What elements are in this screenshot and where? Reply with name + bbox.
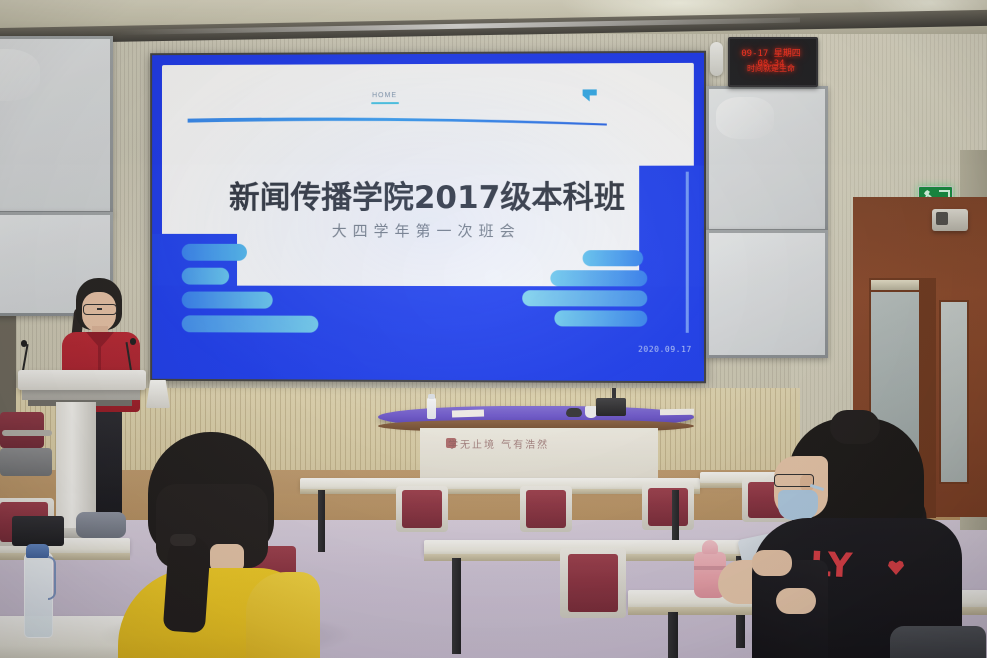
slide-deco-bar	[182, 268, 229, 285]
microphone-icon	[21, 340, 27, 347]
desk-edge	[0, 553, 130, 560]
papers-on-table	[452, 409, 484, 417]
led-line-2: 时间就是生命	[730, 63, 812, 74]
flag-icon	[583, 89, 597, 101]
led-clock-display: 09-17 星期四 08:34 时间就是生命	[728, 37, 818, 87]
whiteboard-glare	[716, 97, 774, 139]
whiteboard-panel-top	[0, 36, 113, 214]
slide-deco-bar	[583, 250, 644, 266]
glasses-icon	[774, 474, 814, 487]
slide-deco-bar	[522, 290, 647, 306]
student-hair-bun	[830, 410, 880, 444]
chair-seat	[0, 448, 52, 476]
student-arm	[752, 550, 792, 576]
av-control-box[interactable]	[596, 398, 626, 416]
slide-nav-item-home[interactable]: HOME	[372, 92, 397, 99]
slide-deco-bar	[182, 315, 319, 332]
bottle-cap	[428, 394, 435, 399]
desk-leg	[668, 612, 678, 658]
hair-tie-icon	[170, 534, 196, 546]
slide-deco-bar	[182, 244, 247, 261]
glasses-bridge	[97, 308, 102, 310]
student-yellow	[118, 432, 328, 658]
student-shoulder	[246, 572, 320, 658]
slide-deco-bar	[554, 310, 647, 326]
slide-subtitle: 大四学年第一次班会	[152, 220, 704, 241]
desk-leg	[452, 558, 461, 654]
desk-edge	[300, 489, 700, 494]
bag-on-desk	[12, 516, 64, 546]
whiteboard-surface	[0, 39, 110, 211]
chair-back[interactable]	[402, 490, 442, 528]
microphone-icon	[130, 338, 136, 345]
whiteboard-glare	[0, 49, 40, 101]
student-hand	[776, 588, 816, 614]
student-ponytail	[163, 535, 212, 634]
bottle-cap	[26, 544, 49, 558]
chair-back[interactable]	[526, 490, 566, 528]
table-calligraphy: 学无止境 气有浩然	[448, 436, 580, 458]
slide-deco-bar	[550, 270, 647, 286]
whiteboard-surface	[709, 89, 825, 229]
slide-title: 新闻传播学院2017级本科班	[152, 172, 704, 217]
glasses-icon	[83, 304, 117, 315]
whiteboard-panel-bottom	[706, 230, 828, 358]
papers-on-table	[660, 409, 694, 416]
slide-deco-bar	[182, 292, 273, 309]
whiteboard-panel-top	[706, 86, 828, 232]
wall-recess	[0, 300, 16, 430]
student-black-tee: LY	[752, 418, 987, 658]
camera-lens-icon	[936, 212, 948, 225]
computer-mouse[interactable]	[566, 408, 582, 417]
whiteboard-surface	[709, 233, 825, 355]
thermos-band	[694, 566, 726, 570]
chair-back[interactable]	[648, 488, 688, 526]
chair-armrest	[2, 430, 52, 436]
face-mask-icon	[778, 490, 818, 520]
whiteboard-right	[706, 86, 828, 358]
thermos-neck	[702, 540, 718, 554]
whiteboard-left	[0, 36, 113, 316]
backpack	[890, 626, 986, 658]
slide-nav-active-underline	[371, 102, 399, 104]
slide-viewport: HOME 新闻传播学院2017级本科班 大四学年第一次班会 2020.09.17	[152, 53, 704, 381]
chair-back[interactable]	[568, 554, 618, 612]
slide-swoosh	[188, 116, 607, 127]
slide-nav: HOME	[152, 91, 704, 111]
lecture-hall-photo: HOME 新闻传播学院2017级本科班 大四学年第一次班会 2020.09.17	[0, 0, 987, 658]
projection-screen: HOME 新闻传播学院2017级本科班 大四学年第一次班会 2020.09.17	[150, 51, 706, 384]
motion-sensor	[710, 42, 723, 76]
podium-desktop	[18, 370, 146, 390]
wall-camera	[932, 209, 968, 231]
bottle-strap	[48, 556, 56, 600]
sanitizer-bottle	[427, 397, 436, 419]
